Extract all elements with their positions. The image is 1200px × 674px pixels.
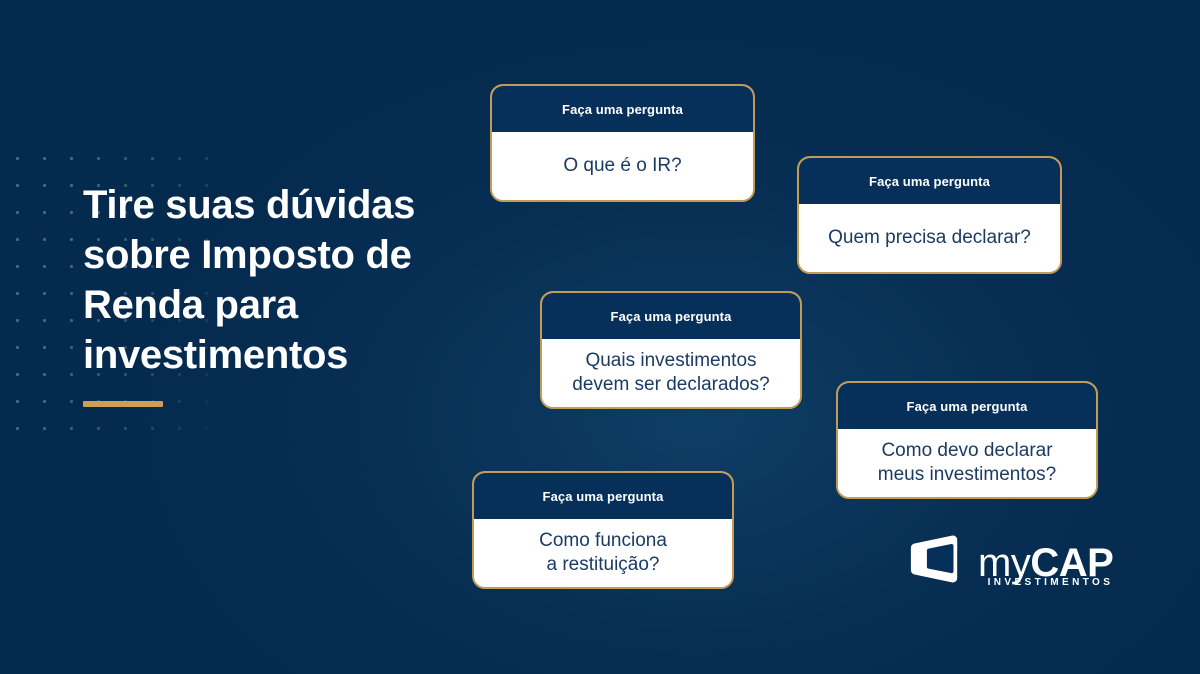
question-card-text: Como devo declarar meus investimentos?	[838, 429, 1096, 497]
question-card-header: Faça uma pergunta	[542, 293, 800, 339]
question-card[interactable]: Faça uma pergunta O que é o IR?	[490, 84, 755, 202]
question-card-text: O que é o IR?	[492, 132, 753, 200]
title-underline-rule	[83, 401, 163, 407]
question-card-text: Como funciona a restituição?	[474, 519, 732, 587]
question-card-text: Quem precisa declarar?	[799, 204, 1060, 272]
mycap-cube-icon	[908, 534, 962, 589]
question-card-header: Faça uma pergunta	[474, 473, 732, 519]
hero-text-block: Tire suas dúvidas sobre Imposto de Renda…	[83, 180, 483, 407]
slide-canvas: Tire suas dúvidas sobre Imposto de Renda…	[0, 0, 1200, 674]
logo-text-block: myCAP INVESTIMENTOS	[978, 541, 1113, 583]
question-card[interactable]: Faça uma pergunta Quem precisa declarar?	[797, 156, 1062, 274]
question-card-header: Faça uma pergunta	[799, 158, 1060, 204]
question-card[interactable]: Faça uma pergunta Quais investimentos de…	[540, 291, 802, 409]
question-card[interactable]: Faça uma pergunta Como devo declarar meu…	[836, 381, 1098, 499]
brand-logo: myCAP INVESTIMENTOS	[908, 534, 1113, 589]
page-title: Tire suas dúvidas sobre Imposto de Renda…	[83, 180, 483, 380]
question-card[interactable]: Faça uma pergunta Como funciona a restit…	[472, 471, 734, 589]
question-card-header: Faça uma pergunta	[838, 383, 1096, 429]
question-card-header: Faça uma pergunta	[492, 86, 753, 132]
logo-tagline: INVESTIMENTOS	[988, 577, 1114, 588]
question-card-text: Quais investimentos devem ser declarados…	[542, 339, 800, 407]
